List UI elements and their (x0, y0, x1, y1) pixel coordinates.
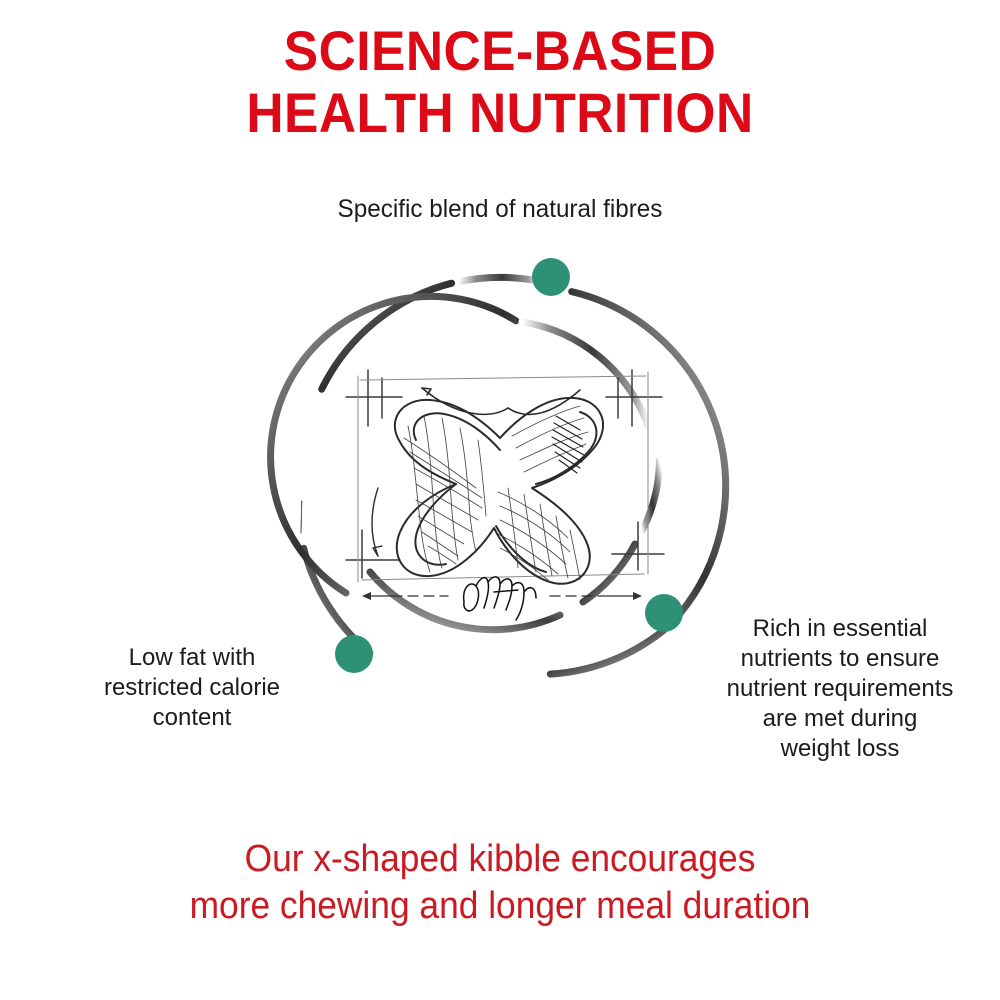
caption-right-line-1: Rich in essential (690, 614, 990, 644)
caption-right-line-5: weight loss (690, 734, 990, 764)
sketch-frame (358, 372, 648, 582)
page-title-line-2: HEALTH NUTRITION (40, 82, 960, 144)
poster-root: SCIENCE-BASED HEALTH NUTRITION Specific … (0, 0, 1000, 1000)
sketch-left-arrow (372, 488, 382, 556)
outer-arc-top (458, 277, 538, 281)
dot-bottom-right (645, 594, 683, 632)
outer-arc-left-stub (301, 504, 302, 530)
strapline-line-1: Our x-shaped kibble encourages (35, 836, 965, 883)
caption-left-low-fat: Low fat with restricted calorie content (58, 643, 326, 733)
caption-top-fibres: Specific blend of natural fibres (15, 194, 985, 225)
sketch-mesh (404, 406, 588, 580)
strapline-line-2: more chewing and longer meal duration (35, 883, 965, 930)
sketch-shading (552, 416, 584, 473)
page-title-line-1: SCIENCE-BASED (40, 20, 960, 82)
inner-arc-bottom (370, 572, 560, 630)
caption-left-line-1: Low fat with (58, 643, 326, 673)
caption-left-line-3: content (58, 703, 326, 733)
caption-right-line-3: nutrient requirements (690, 674, 990, 704)
sketch-top-guide (422, 388, 580, 414)
caption-right-line-4: are met during (690, 704, 990, 734)
caption-right-nutrients: Rich in essential nutrients to ensure nu… (690, 614, 990, 764)
inner-arc-right (642, 460, 660, 531)
inner-arc-lower-right (583, 544, 635, 602)
kibble-sketch (346, 370, 664, 620)
dot-top (532, 258, 570, 296)
caption-right-line-2: nutrients to ensure (690, 644, 990, 674)
sketch-signature (464, 577, 536, 620)
dot-bottom-left (335, 635, 373, 673)
caption-left-line-2: restricted calorie (58, 673, 326, 703)
inner-arc-top-right (522, 322, 649, 427)
page-title: SCIENCE-BASED HEALTH NUTRITION (40, 20, 960, 144)
strapline: Our x-shaped kibble encourages more chew… (35, 836, 965, 930)
outer-arc-right (572, 292, 726, 613)
